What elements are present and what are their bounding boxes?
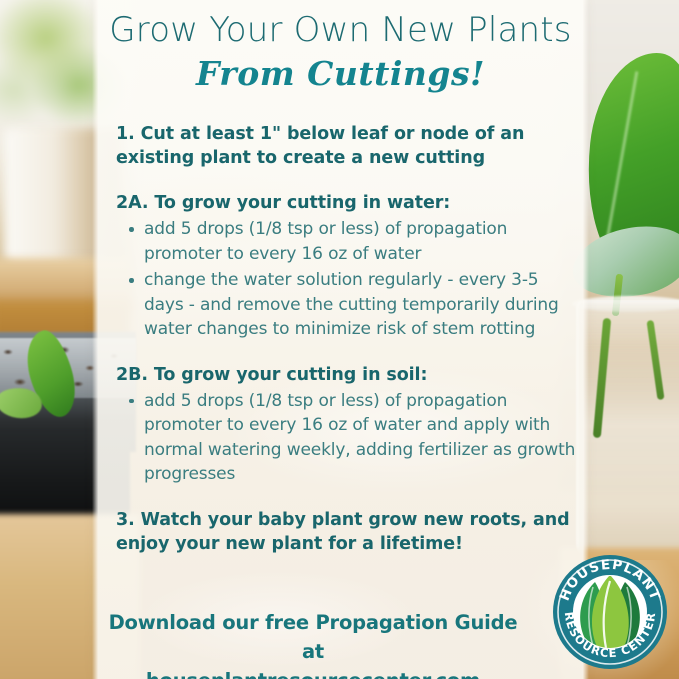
- content-panel: Grow Your Own New Plants From Cuttings! …: [98, 0, 583, 679]
- footer-line-1: Download our free Propagation Guide at: [109, 611, 518, 663]
- step-3-heading: 3. Watch your baby plant grow new roots,…: [116, 508, 576, 556]
- step-2a-heading: 2A. To grow your cutting in water:: [116, 191, 576, 215]
- houseplant-resource-center-logo[interactable]: HOUSEPLANT RESOURCE CENTER: [551, 553, 669, 671]
- footer-cta: Download our free Propagation Guide at h…: [98, 608, 528, 679]
- list-item: change the water solution regularly - ev…: [116, 268, 576, 342]
- list-item: add 5 drops (1/8 tsp or less) of propaga…: [116, 217, 576, 266]
- instructions-list: 1. Cut at least 1" below leaf or node of…: [116, 122, 576, 556]
- website-url[interactable]: houseplantresourcecenter.com: [146, 669, 480, 679]
- logo-svg: HOUSEPLANT RESOURCE CENTER: [551, 553, 669, 671]
- glass-jar-with-water: [576, 300, 679, 560]
- step-2b-heading: 2B. To grow your cutting in soil:: [116, 363, 576, 387]
- step-1-heading: 1. Cut at least 1" below leaf or node of…: [116, 122, 576, 170]
- page-subtitle: From Cuttings!: [98, 54, 583, 93]
- list-item: add 5 drops (1/8 tsp or less) of propaga…: [116, 389, 576, 487]
- page-title: Grow Your Own New Plants: [98, 10, 583, 50]
- poster-content: Grow Your Own New Plants From Cuttings! …: [98, 0, 583, 679]
- step-2a-bullets: add 5 drops (1/8 tsp or less) of propaga…: [116, 217, 576, 342]
- poster-canvas: Grow Your Own New Plants From Cuttings! …: [0, 0, 679, 679]
- step-2b-bullets: add 5 drops (1/8 tsp or less) of propaga…: [116, 389, 576, 487]
